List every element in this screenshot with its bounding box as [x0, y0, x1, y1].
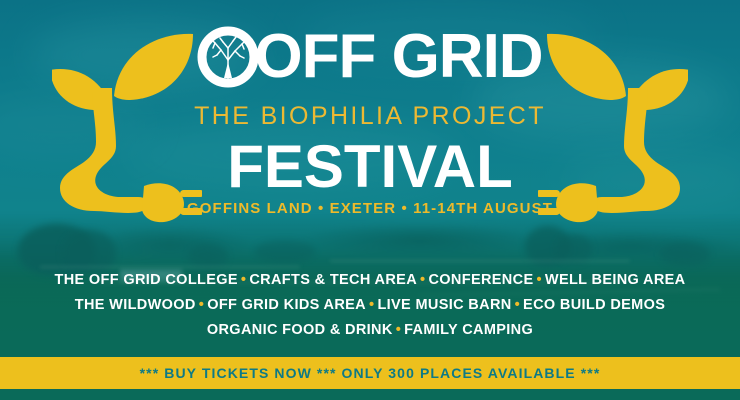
activity-item: FAMILY CAMPING	[404, 322, 533, 338]
event-word: FESTIVAL	[0, 135, 740, 199]
activities-list: THE OFF GRID COLLEGE•CRAFTS & TECH AREA•…	[0, 268, 740, 343]
activity-separator: •	[196, 297, 207, 313]
buy-tickets-text: *** BUY TICKETS NOW *** ONLY 300 PLACES …	[140, 365, 601, 381]
activity-item: LIVE MUSIC BARN	[377, 297, 511, 313]
activity-separator: •	[393, 322, 404, 338]
subtitle: THE BIOPHILIA PROJECT	[0, 103, 740, 129]
activity-separator: •	[238, 272, 249, 288]
activity-separator: •	[417, 272, 428, 288]
field-line	[330, 260, 630, 262]
page-title: OFF GRID	[254, 26, 542, 88]
brand-title-row: OFF GRID	[0, 26, 740, 88]
activity-line-2: THE WILDWOOD•OFF GRID KIDS AREA•LIVE MUS…	[0, 293, 740, 318]
activity-item: WELL BEING AREA	[545, 272, 686, 288]
activity-item: CRAFTS & TECH AREA	[249, 272, 417, 288]
tree-silhouette	[188, 244, 228, 268]
tree-in-circle-icon	[197, 26, 259, 88]
activity-item: THE OFF GRID COLLEGE	[54, 272, 237, 288]
venue-date-line: GOFFINS LAND • EXETER • 11-14TH AUGUST	[0, 200, 740, 218]
activity-line-3: ORGANIC FOOD & DRINK•FAMILY CAMPING	[0, 318, 740, 343]
activity-line-1: THE OFF GRID COLLEGE•CRAFTS & TECH AREA•…	[0, 268, 740, 293]
tree-silhouette	[660, 242, 710, 266]
tree-silhouette	[255, 240, 315, 262]
activity-item: CONFERENCE	[428, 272, 533, 288]
activity-separator: •	[512, 297, 523, 313]
activity-item: OFF GRID KIDS AREA	[207, 297, 366, 313]
festival-poster: OFF GRID THE BIOPHILIA PROJECT FESTIVAL …	[0, 0, 740, 400]
activity-separator: •	[366, 297, 377, 313]
activity-separator: •	[533, 272, 544, 288]
activity-item: ECO BUILD DEMOS	[523, 297, 665, 313]
buy-tickets-banner[interactable]: *** BUY TICKETS NOW *** ONLY 300 PLACES …	[0, 357, 740, 389]
activity-item: THE WILDWOOD	[75, 297, 196, 313]
activity-item: ORGANIC FOOD & DRINK	[207, 322, 393, 338]
